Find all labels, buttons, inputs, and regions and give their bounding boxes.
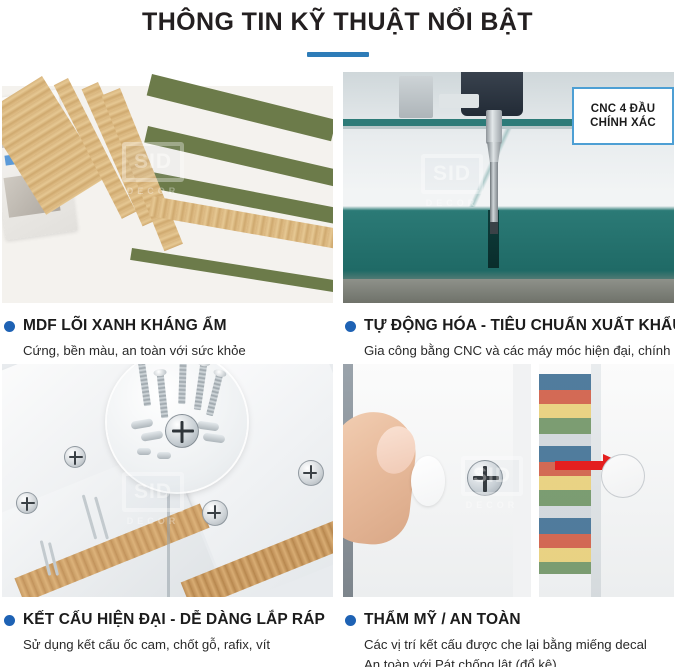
- callout-cnc-4-head: CNC 4 ĐẦU CHÍNH XÁC: [572, 87, 674, 145]
- screw-head: [153, 368, 167, 376]
- camlock-exposed-icon: [467, 460, 503, 496]
- screw-icon: [206, 374, 223, 416]
- caption-mdf-core: MDF LÕI XANH KHÁNG ẨM Cứng, bền màu, an …: [2, 303, 333, 361]
- screw-icon: [138, 364, 151, 406]
- camlock-large-icon: [165, 414, 199, 448]
- caption-line-1: Cứng, bền màu, an toàn với sức khỏe: [4, 342, 331, 361]
- decal-sticker-held: [411, 456, 445, 506]
- feature-cell-aesthetic-safety: SID DECOR THẨM MỸ / AN TOÀN Các vị trí k…: [343, 364, 674, 667]
- caption-heading-row: TỰ ĐỘNG HÓA - TIÊU CHUẨN XUẤT KHẨU: [345, 317, 672, 335]
- camlock-screw-icon: [64, 446, 86, 468]
- feature-cell-assembly-structure: SID DECOR KẾT CẤU HIỆN ĐẠI - DỄ DÀNG LẮP…: [2, 364, 333, 667]
- cnc-bit-tip: [490, 222, 498, 234]
- page-header: THÔNG TIN KỸ THUẬT NỔI BẬT: [0, 0, 675, 72]
- caption-title: MDF LÕI XANH KHÁNG ẨM: [23, 317, 227, 335]
- caption-assembly-structure: KẾT CẤU HIỆN ĐẠI - DỄ DÀNG LẮP RÁP Sử dụ…: [2, 597, 333, 655]
- title-underline-rule: [307, 52, 369, 57]
- caption-heading-row: KẾT CẤU HIỆN ĐẠI - DỄ DÀNG LẮP RÁP: [4, 611, 331, 629]
- caption-title: THẨM MỸ / AN TOÀN: [364, 611, 521, 629]
- board-5-core: [130, 248, 333, 293]
- camlock-screw-icon: [298, 460, 324, 486]
- cabinet-panel-edge: [591, 364, 601, 597]
- screw-icon: [194, 364, 207, 410]
- callout-line-2: CHÍNH XÁC: [590, 117, 656, 129]
- rafix-fitting-icon: [137, 448, 151, 455]
- screw-head: [197, 364, 211, 367]
- wood-dowel-icon: [203, 433, 226, 444]
- caption-line-1: Các vị trí kết cấu được che lại bằng miế…: [345, 636, 672, 655]
- feature-grid: SID DECOR MDF LÕI XANH KHÁNG ẨM Cứng, bề…: [0, 72, 675, 667]
- screw-icon: [157, 374, 169, 418]
- camlock-screw-icon: [16, 492, 38, 514]
- cnc-drill-bit: [490, 162, 498, 224]
- caption-title: KẾT CẤU HIỆN ĐẠI - DỄ DÀNG LẮP RÁP: [23, 611, 325, 629]
- photo-decal-cover: SID DECOR: [343, 364, 674, 597]
- screw-icon: [178, 364, 187, 404]
- camlock-screw-icon: [202, 500, 228, 526]
- caption-line-1: Sử dụng kết cấu ốc cam, chốt gỗ, rafix, …: [4, 636, 331, 655]
- feature-cell-mdf-core: SID DECOR MDF LÕI XANH KHÁNG ẨM Cứng, bề…: [2, 72, 333, 364]
- arrow-shaft: [555, 461, 607, 470]
- technical-info-page: THÔNG TIN KỸ THUẬT NỔI BẬT: [0, 0, 675, 667]
- caption-heading-row: MDF LÕI XANH KHÁNG ẨM: [4, 317, 331, 335]
- rafix-fitting-icon: [157, 452, 171, 459]
- callout-line-1: CNC 4 ĐẦU: [591, 103, 655, 115]
- photo-assembly-hardware: SID DECOR: [2, 364, 333, 597]
- cnc-mounting-plate: [439, 94, 479, 108]
- wood-dowel-icon: [197, 421, 220, 432]
- caption-heading-row: THẨM MỸ / AN TOÀN: [345, 611, 672, 629]
- photo-mdf-core: SID DECOR: [2, 72, 333, 303]
- bullet-dot-icon: [345, 615, 356, 626]
- bullet-dot-icon: [4, 321, 15, 332]
- screw-head: [134, 364, 148, 365]
- wood-dowel-icon: [140, 430, 163, 442]
- page-title: THÔNG TIN KỸ THUẬT NỔI BẬT: [142, 8, 533, 37]
- caption-aesthetic-safety: THẨM MỸ / AN TOÀN Các vị trí kết cấu đượ…: [343, 597, 674, 667]
- photo-cnc-machine: SID DECOR CNC 4 ĐẦU CHÍNH XÁC: [343, 72, 674, 303]
- workshop-floor-strip: [343, 279, 674, 303]
- shelf-books-right: [539, 374, 591, 574]
- caption-title: TỰ ĐỘNG HÓA - TIÊU CHUẨN XUẤT KHẨU: [364, 317, 675, 335]
- bullet-dot-icon: [4, 615, 15, 626]
- caption-cnc-automation: TỰ ĐỘNG HÓA - TIÊU CHUẨN XUẤT KHẨU Gia c…: [343, 303, 674, 361]
- split-divider: [531, 364, 539, 597]
- feature-cell-cnc-automation: SID DECOR CNC 4 ĐẦU CHÍNH XÁC TỰ ĐỘNG HÓ…: [343, 72, 674, 364]
- caption-line-2: An toàn với Pát chống lật (đổ kệ): [345, 656, 672, 667]
- cnc-bit-collar: [486, 110, 502, 144]
- caption-line-1: Gia công bằng CNC và các máy móc hiện đạ…: [345, 342, 672, 361]
- bullet-dot-icon: [345, 321, 356, 332]
- cnc-machine-housing: [399, 76, 433, 118]
- wood-dowel-icon: [130, 418, 153, 430]
- decal-sticker-applied: [601, 454, 645, 498]
